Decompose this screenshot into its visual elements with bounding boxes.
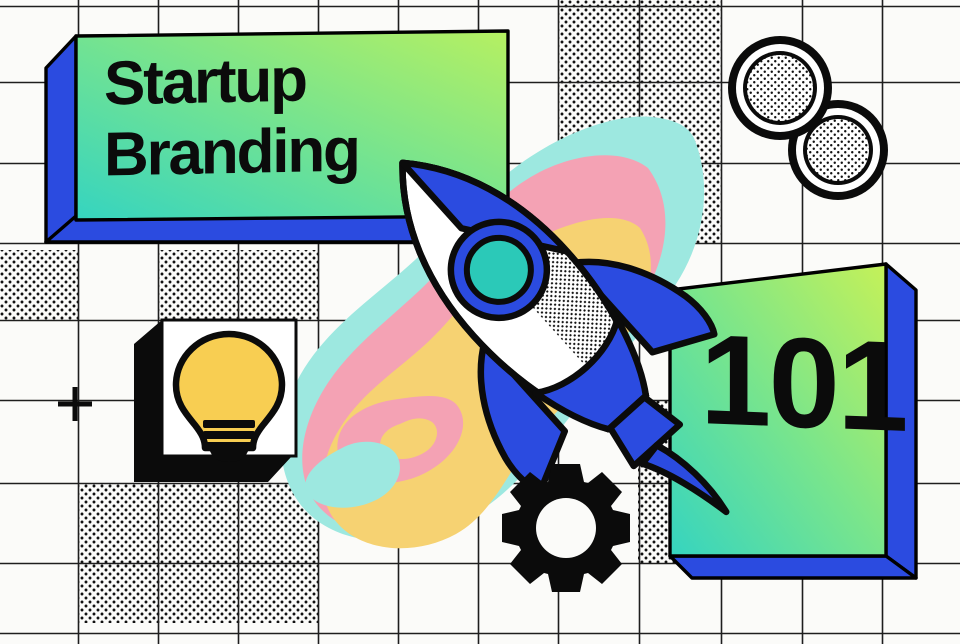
- title-card-side-left: [46, 36, 76, 242]
- illustration-canvas: StartupBranding 101: [0, 0, 960, 644]
- number-label: 101: [700, 316, 906, 452]
- gear-icon: [502, 464, 630, 592]
- title-line-2: Branding: [104, 116, 359, 190]
- coin-icon-top: [728, 36, 832, 140]
- lightbulb-card: [134, 320, 296, 482]
- number-card-side-bottom: [670, 556, 916, 578]
- page-title: StartupBranding: [104, 44, 359, 191]
- title-line-1: Startup: [104, 46, 306, 119]
